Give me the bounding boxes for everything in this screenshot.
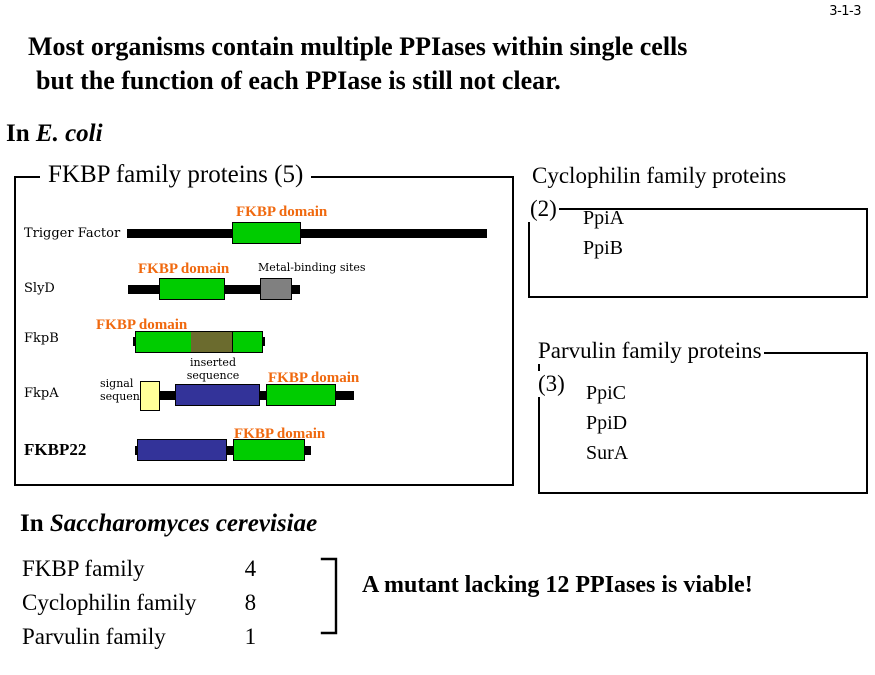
table-row: Parvulin family 1 <box>22 624 270 658</box>
table-row: FKBP family 4 <box>22 556 270 590</box>
family-count-cell: 1 <box>196 624 270 658</box>
family-count-cell: 4 <box>196 556 270 590</box>
grouping-brace-icon <box>320 556 344 636</box>
list-item: PpiB <box>583 233 624 263</box>
yeast-heading-prefix: In <box>20 510 50 537</box>
headline-line-1: Most organisms contain multiple PPIases … <box>28 32 687 61</box>
yeast-heading-species: Saccharomyces cerevisiae <box>50 510 317 537</box>
family-name-cell: Parvulin family <box>22 624 196 658</box>
fkbp-family-box-title: FKBP family proteins (5) <box>40 161 311 189</box>
family-name-cell: FKBP family <box>22 556 196 590</box>
ecoli-heading-prefix: In <box>6 120 36 147</box>
page-number: 3-1-3 <box>829 4 861 19</box>
parvulin-family-count: (3) <box>536 371 567 397</box>
list-item: PpiC <box>586 378 628 408</box>
list-item: PpiA <box>583 203 624 233</box>
table-row: Cyclophilin family 8 <box>22 590 270 624</box>
cyclophilin-family-title: Cyclophilin family proteins <box>530 163 788 189</box>
headline-line-2: but the function of each PPIase is still… <box>36 64 848 98</box>
slide-headline: Most organisms contain multiple PPIases … <box>28 30 848 98</box>
ecoli-section-heading: In E. coli <box>6 120 103 148</box>
cyclophilin-member-list: PpiA PpiB <box>583 203 624 263</box>
yeast-section-heading: In Saccharomyces cerevisiae <box>20 510 317 538</box>
family-name-cell: Cyclophilin family <box>22 590 196 624</box>
cyclophilin-family-box <box>528 208 868 298</box>
fkbp-family-box <box>14 176 514 486</box>
cyclophilin-family-count: (2) <box>528 196 559 222</box>
family-count-cell: 8 <box>196 590 270 624</box>
mutant-viability-note: A mutant lacking 12 PPIases is viable! <box>362 572 753 599</box>
yeast-family-count-table: FKBP family 4 Cyclophilin family 8 Parvu… <box>22 556 270 658</box>
ecoli-heading-species: E. coli <box>36 120 103 147</box>
list-item: SurA <box>586 438 628 468</box>
parvulin-family-title: Parvulin family proteins <box>536 338 764 364</box>
list-item: PpiD <box>586 408 628 438</box>
parvulin-member-list: PpiC PpiD SurA <box>586 378 628 468</box>
